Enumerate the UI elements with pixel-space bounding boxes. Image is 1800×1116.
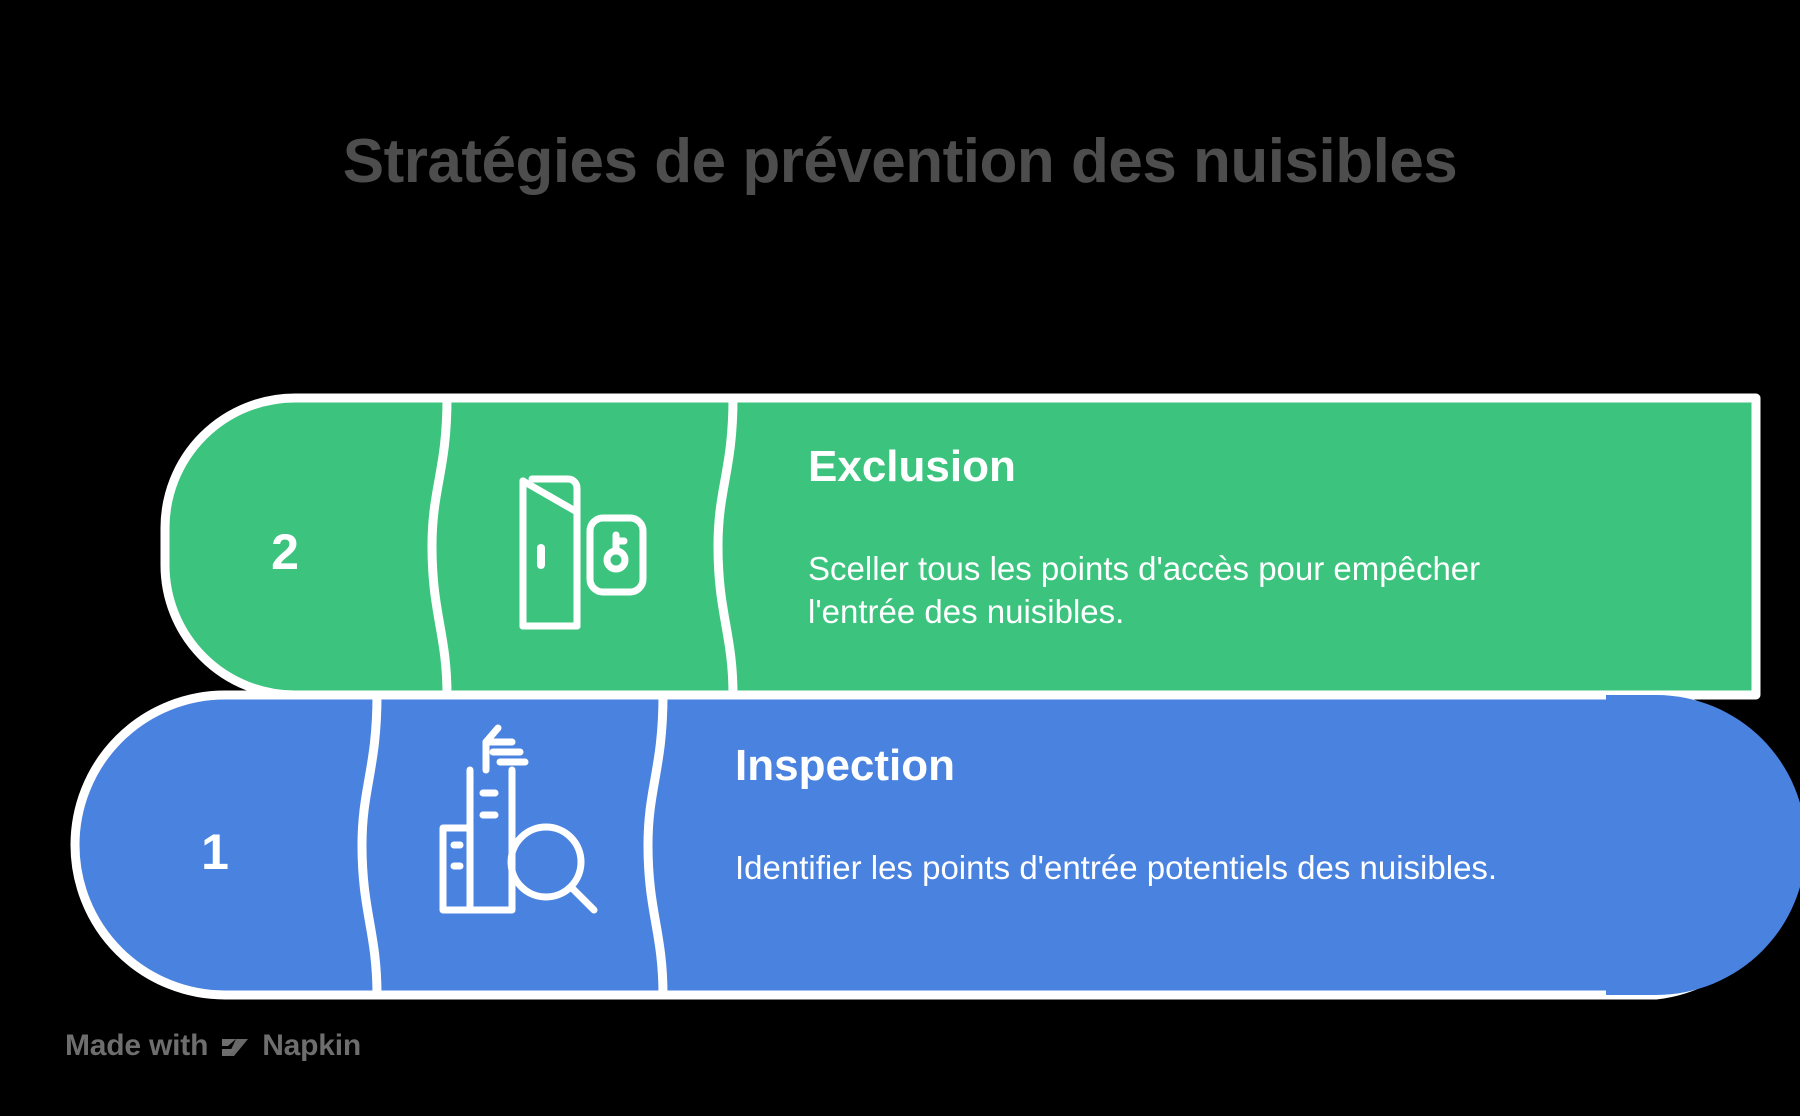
napkin-logo-icon xyxy=(219,1030,251,1062)
step-1-heading: Inspection xyxy=(735,744,955,788)
step-2-heading: Exclusion xyxy=(808,445,1016,489)
step-2-body: Sceller tous les points d'accès pour emp… xyxy=(808,548,1548,634)
step-card-1[interactable] xyxy=(75,695,1800,995)
step-1-body: Identifier les points d'entrée potentiel… xyxy=(735,847,1605,890)
footer-made-with-label: Made with xyxy=(65,1029,208,1063)
step-card-1-shape xyxy=(75,695,1756,995)
step-2-number-badge: 2 xyxy=(245,527,325,577)
step-card-1-right-cap xyxy=(1606,695,1800,995)
footer-brand-label: Napkin xyxy=(262,1029,361,1063)
step-1-number-badge: 1 xyxy=(175,827,255,877)
made-with-napkin-footer[interactable]: Made with Napkin xyxy=(65,1029,361,1063)
